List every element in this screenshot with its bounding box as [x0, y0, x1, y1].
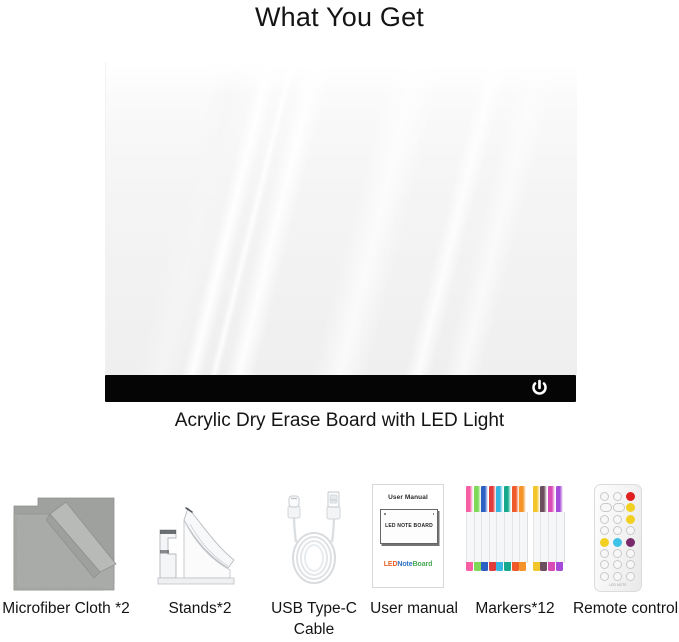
remote-button[interactable]: [626, 492, 635, 501]
remote-button[interactable]: [626, 572, 635, 581]
remote-button[interactable]: [626, 515, 635, 524]
usb-type-c-cable-icon: [262, 478, 366, 596]
microfiber-cloth-icon: [0, 478, 132, 596]
marker-cap: [512, 486, 519, 513]
remote-button[interactable]: [600, 549, 609, 558]
accessory-item-stands: Stands*2: [140, 478, 260, 642]
manual-logo-board: Board: [413, 561, 433, 568]
manual-logo-led: LED: [384, 561, 398, 568]
board-glare-streak: [207, 62, 347, 375]
board-top-sheen: [106, 62, 577, 96]
marker-tip: [496, 562, 503, 571]
accessory-label-remote: Remote control: [562, 598, 679, 619]
remote-button[interactable]: [613, 572, 622, 581]
marker-cap: [504, 486, 511, 513]
manual-cover: User Manual LED NOTE BOARD LEDNoteBoard: [372, 484, 444, 588]
marker-cap: [474, 486, 481, 513]
remote-button[interactable]: [613, 538, 622, 547]
remote-button[interactable]: [613, 549, 622, 558]
marker-tip: [489, 562, 496, 571]
remote-button[interactable]: [600, 560, 609, 569]
board-glare-streak: [119, 62, 275, 375]
accessory-label-cable-line2: Cable: [294, 621, 335, 638]
remote-control-icon: LED NOTE: [572, 478, 679, 596]
page-title: What You Get: [0, 0, 679, 34]
marker-tip: [548, 562, 555, 571]
manual-board-dot: [384, 513, 386, 515]
board-glare-streak: [425, 62, 573, 375]
board-glare-streak: [191, 62, 312, 375]
board-caption: Acrylic Dry Erase Board with LED Light: [0, 410, 679, 432]
accessory-item-markers: Markers*12: [462, 478, 568, 642]
remote-button[interactable]: [626, 503, 635, 512]
board-led-base: [105, 375, 576, 402]
manual-board-illustration: LED NOTE BOARD: [380, 509, 438, 544]
manual-heading: User Manual: [373, 494, 443, 501]
marker-cap: [496, 486, 503, 513]
remote-button[interactable]: [626, 560, 635, 569]
marker-tip: [533, 562, 540, 571]
remote-button[interactable]: [600, 515, 609, 524]
marker-tip: [519, 562, 526, 571]
accessory-row: Microfiber Cloth *2 Stands*2: [0, 478, 679, 642]
marker-cap: [481, 486, 488, 513]
marker-cap: [556, 486, 563, 513]
marker-tip: [512, 562, 519, 571]
remote-button[interactable]: [600, 526, 609, 535]
accessory-item-cloth: Microfiber Cloth *2: [0, 478, 132, 642]
remote-button[interactable]: [600, 503, 612, 512]
user-manual-icon: User Manual LED NOTE BOARD LEDNoteBoard: [360, 478, 468, 596]
markers-icon: [462, 478, 568, 596]
marker-tip: [540, 562, 547, 571]
accessory-label-stands: Stands*2: [130, 598, 270, 619]
accessory-label-cable-line1: USB Type-C: [271, 600, 357, 617]
board-glare-streak: [296, 62, 460, 375]
accessory-label-markers: Markers*12: [452, 598, 578, 619]
marker-tip: [474, 562, 481, 571]
marker-cap: [489, 486, 496, 513]
marker-tip: [556, 562, 563, 571]
manual-logo-note: Note: [397, 561, 412, 568]
remote-button[interactable]: [613, 492, 622, 501]
marker-cap: [548, 486, 555, 513]
manual-board-dot: [433, 513, 435, 515]
remote-button[interactable]: [626, 549, 635, 558]
marker-cap: [519, 486, 526, 513]
marker-cap: [533, 486, 540, 513]
acrylic-stand-icon: [140, 478, 260, 596]
product-board-figure: [105, 62, 576, 402]
marker-tip: [481, 562, 488, 571]
marker-tip: [466, 562, 473, 571]
remote-button[interactable]: [613, 515, 622, 524]
remote-button[interactable]: [613, 560, 622, 569]
accessory-item-remote: LED NOTE Remote control: [572, 478, 679, 642]
marker-body: [556, 512, 565, 563]
remote-button[interactable]: [613, 503, 625, 512]
marker-cap: [466, 486, 473, 513]
manual-board-text: LED NOTE BOARD: [381, 523, 437, 529]
board-glare-streak: [163, 62, 296, 375]
remote-button[interactable]: [600, 492, 609, 501]
power-icon: [530, 379, 549, 398]
board-glare-streak: [387, 62, 524, 375]
remote-button[interactable]: [626, 538, 635, 547]
remote-button[interactable]: [613, 526, 622, 535]
marker-cap: [540, 486, 547, 513]
marker-tip: [504, 562, 511, 571]
remote-brand: LED NOTE: [595, 583, 641, 587]
remote-button[interactable]: [600, 538, 609, 547]
manual-logo: LEDNoteBoard: [373, 561, 443, 568]
remote-body: LED NOTE: [594, 484, 642, 592]
remote-button[interactable]: [626, 526, 635, 535]
acrylic-board-panel: [105, 62, 577, 375]
remote-button[interactable]: [600, 572, 609, 581]
marker-body: [519, 512, 528, 563]
accessory-label-cloth: Microfiber Cloth *2: [0, 598, 142, 619]
